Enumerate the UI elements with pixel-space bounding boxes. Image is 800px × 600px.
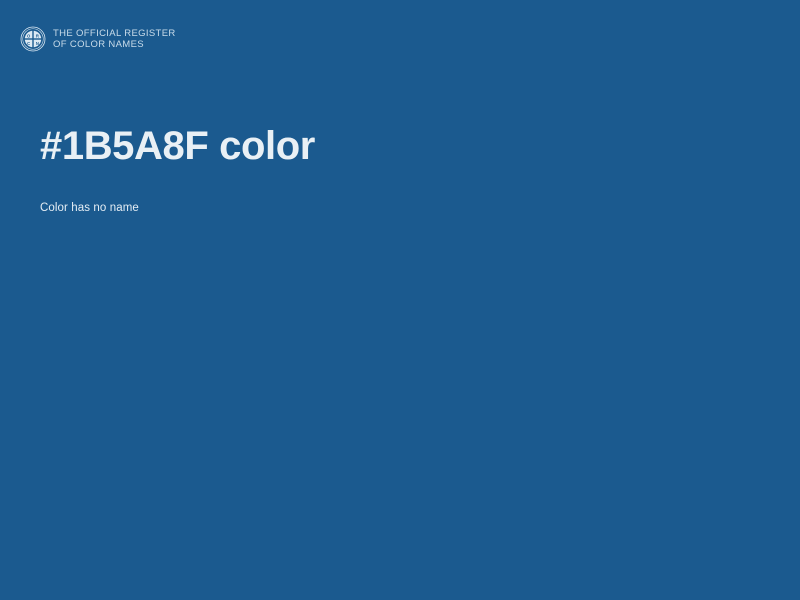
color-name-status: Color has no name xyxy=(40,172,760,215)
site-brand-text: THE OFFICIAL REGISTER OF COLOR NAMES xyxy=(53,28,176,51)
color-page: O R C N THE OFFICIAL REGISTER OF COLOR N… xyxy=(0,0,800,600)
svg-text:R: R xyxy=(36,33,39,38)
color-swatch-background xyxy=(0,0,800,600)
register-seal-icon: O R C N xyxy=(20,26,46,52)
svg-text:N: N xyxy=(36,41,39,46)
page-title: #1B5A8F color xyxy=(40,120,760,172)
site-brand[interactable]: O R C N THE OFFICIAL REGISTER OF COLOR N… xyxy=(20,26,176,52)
svg-text:C: C xyxy=(27,41,30,46)
color-info-block: #1B5A8F color Color has no name xyxy=(40,120,760,215)
brand-title-line-1: THE OFFICIAL REGISTER xyxy=(53,28,176,40)
brand-title-line-2: OF COLOR NAMES xyxy=(53,39,176,51)
